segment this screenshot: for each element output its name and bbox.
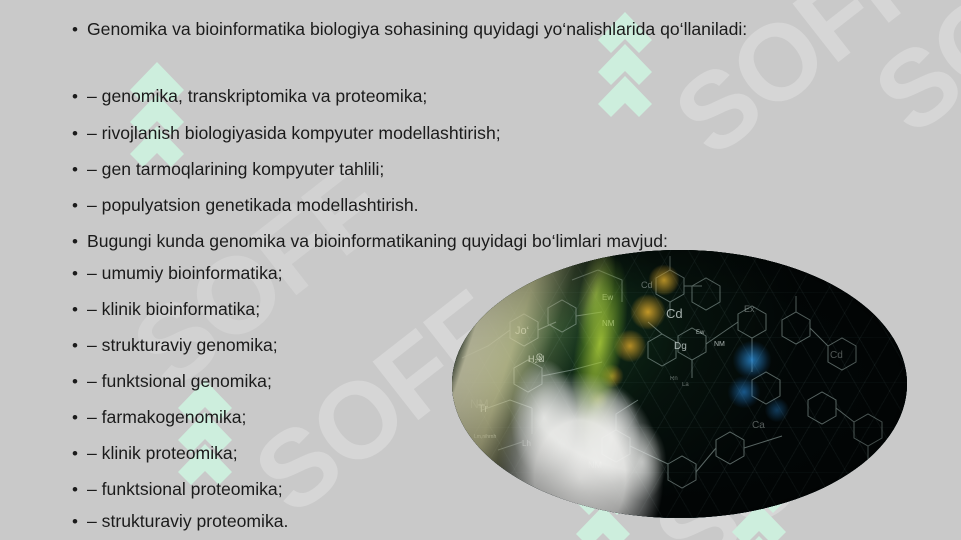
bullet-text: – klinik proteomika; <box>87 442 857 465</box>
bullet-item: •– funktsional proteomika; <box>72 478 872 501</box>
bullet-dot-icon: • <box>72 230 87 253</box>
bullet-dot-icon: • <box>72 85 87 108</box>
bullet-dot-icon: • <box>72 510 87 533</box>
bullet-item: •– klinik proteomika; <box>72 442 872 465</box>
bullet-item: •– funktsional genomika; <box>72 370 872 393</box>
slide-canvas: SOFF SOFF SOFF <box>0 0 961 540</box>
bullet-text: – klinik bioinformatika; <box>87 298 857 321</box>
bullet-text: – funktsional genomika; <box>87 370 857 393</box>
bullet-dot-icon: • <box>72 158 87 181</box>
bullet-dot-icon: • <box>72 406 87 429</box>
bullet-text: – rivojlanish biologiyasida kompyuter mo… <box>87 122 857 145</box>
bullet-text: – funktsional proteomika; <box>87 478 857 501</box>
bullet-item: •Bugungi kunda genomika va bioinformatik… <box>72 230 872 253</box>
bullet-content: •Genomika va bioinformatika biologiya so… <box>0 0 961 540</box>
bullet-dot-icon: • <box>72 478 87 501</box>
bullet-text: – populyatsion genetikada modellashtiris… <box>87 194 857 217</box>
bullet-item: •– strukturaviy genomika; <box>72 334 872 357</box>
bullet-item: •– strukturaviy proteomika. <box>72 510 872 533</box>
bullet-text: Genomika va bioinformatika biologiya soh… <box>87 18 842 41</box>
bullet-item: •– rivojlanish biologiyasida kompyuter m… <box>72 122 872 145</box>
bullet-item: •– genomika, transkriptomika va proteomi… <box>72 85 872 108</box>
bullet-text: Bugungi kunda genomika va bioinformatika… <box>87 230 857 253</box>
bullet-dot-icon: • <box>72 370 87 393</box>
bullet-item: •Genomika va bioinformatika biologiya so… <box>72 18 842 41</box>
bullet-text: – gen tarmoqlarining kompyuter tahlili; <box>87 158 857 181</box>
bullet-item: •– klinik bioinformatika; <box>72 298 872 321</box>
bullet-item: •– gen tarmoqlarining kompyuter tahlili; <box>72 158 872 181</box>
bullet-dot-icon: • <box>72 18 87 41</box>
bullet-text: – strukturaviy proteomika. <box>87 510 857 533</box>
bullet-dot-icon: • <box>72 298 87 321</box>
bullet-item: •– farmakogenomika; <box>72 406 872 429</box>
bullet-dot-icon: • <box>72 442 87 465</box>
bullet-text: – farmakogenomika; <box>87 406 857 429</box>
bullet-text: – umumiy bioinformatika; <box>87 262 857 285</box>
bullet-dot-icon: • <box>72 262 87 285</box>
bullet-dot-icon: • <box>72 334 87 357</box>
bullet-item: •– populyatsion genetikada modellashtiri… <box>72 194 872 217</box>
bullet-dot-icon: • <box>72 194 87 217</box>
bullet-dot-icon: • <box>72 122 87 145</box>
bullet-text: – strukturaviy genomika; <box>87 334 857 357</box>
bullet-item: •– umumiy bioinformatika; <box>72 262 872 285</box>
bullet-text: – genomika, transkriptomika va proteomik… <box>87 85 857 108</box>
